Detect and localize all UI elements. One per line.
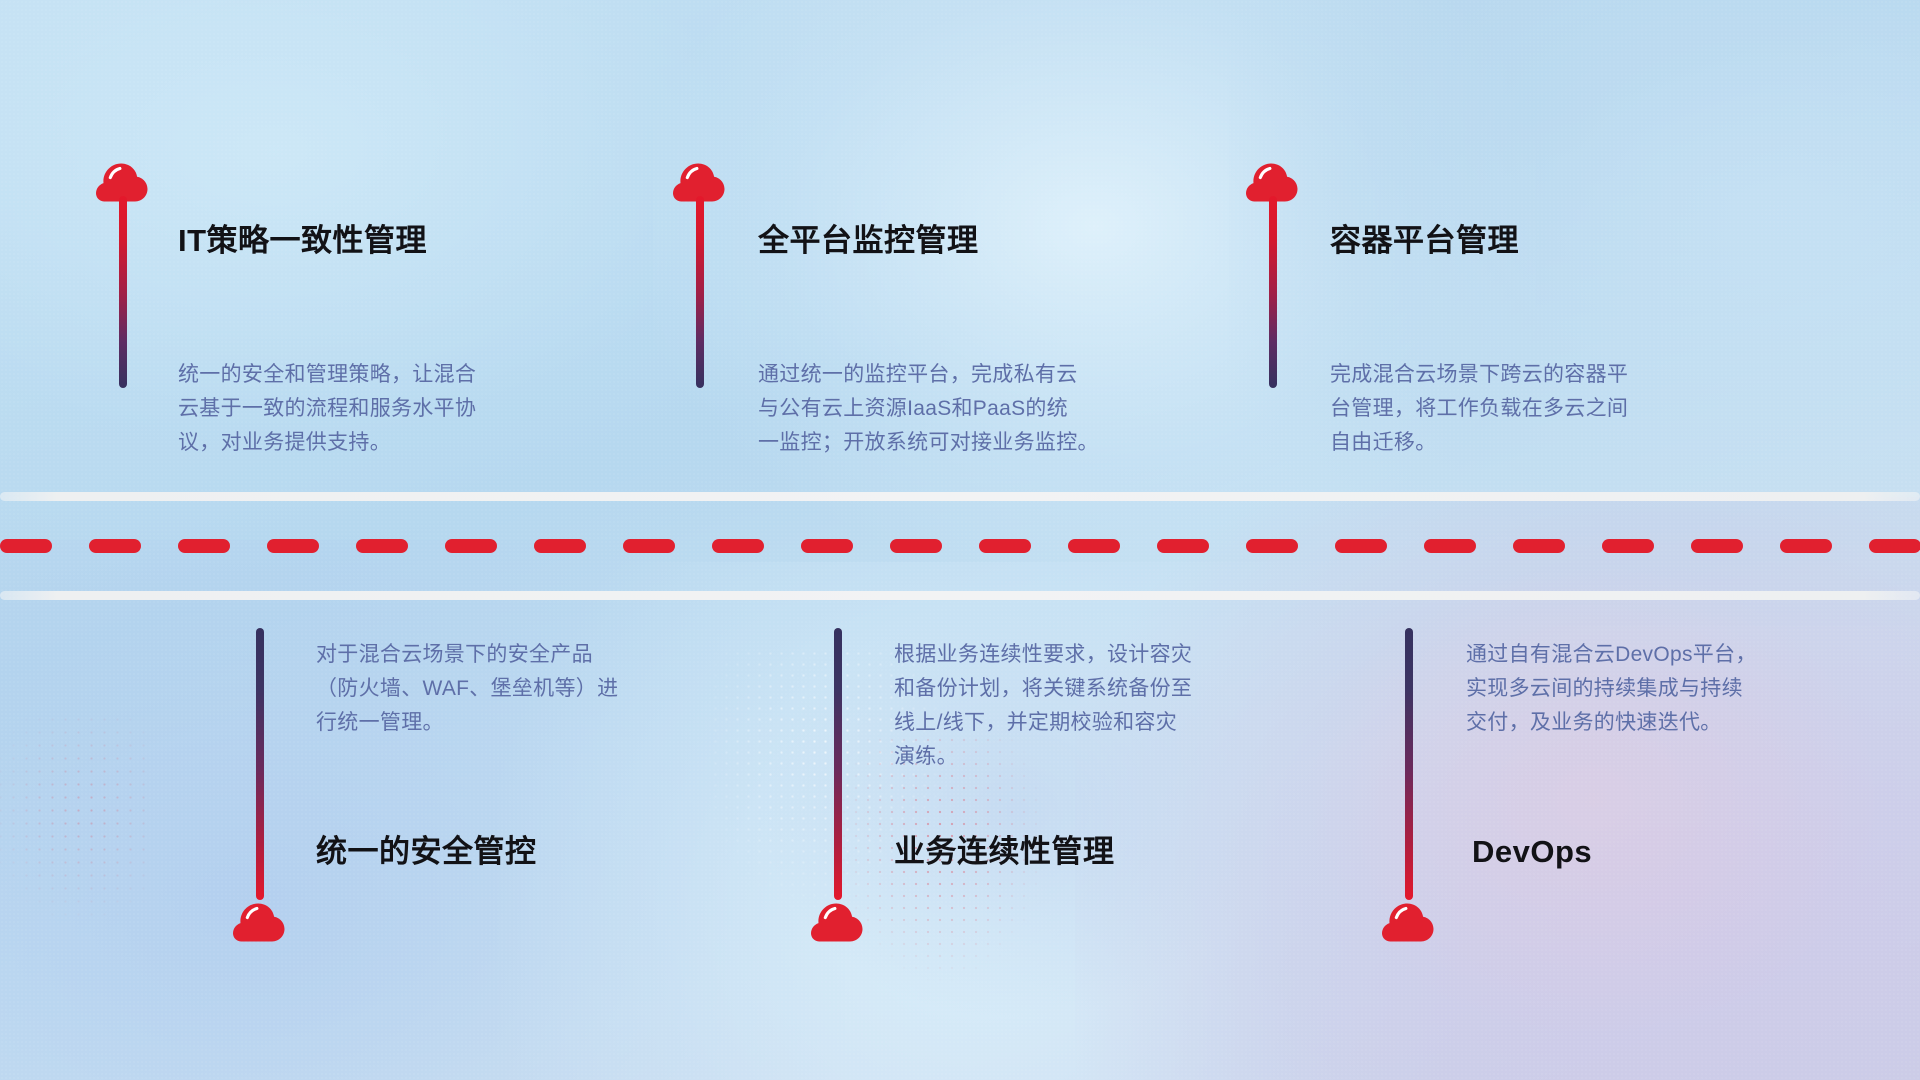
connector-line	[1405, 628, 1413, 900]
bottom-item-1-title: 统一的安全管控	[316, 836, 537, 867]
body-line: 实现多云间的持续集成与持续	[1466, 672, 1886, 706]
body-line: 根据业务连续性要求，设计容灾	[894, 638, 1324, 672]
top-item-1-title: IT策略一致性管理	[178, 225, 427, 256]
body-line: 演练。	[894, 740, 1324, 774]
body-line: 通过统一的监控平台，完成私有云	[758, 358, 1208, 392]
body-line: 自由迁移。	[1330, 426, 1760, 460]
bottom-item-3-body: 通过自有混合云DevOps平台， 实现多云间的持续集成与持续 交付，及业务的快速…	[1466, 638, 1886, 740]
body-line: （防火墙、WAF、堡垒机等）进	[316, 672, 746, 706]
body-line: 交付，及业务的快速迭代。	[1466, 706, 1886, 740]
top-item-1-body: 统一的安全和管理策略，让混合 云基于一致的流程和服务水平协 议，对业务提供支持。	[178, 358, 608, 460]
bottom-item-1-body: 对于混合云场景下的安全产品 （防火墙、WAF、堡垒机等）进 行统一管理。	[316, 638, 746, 740]
cloud-icon	[1381, 900, 1437, 942]
body-line: 线上/线下，并定期校验和容灾	[894, 706, 1324, 740]
body-line: 一监控；开放系统可对接业务监控。	[758, 426, 1208, 460]
connector-line	[1269, 196, 1277, 388]
body-line: 与公有云上资源IaaS和PaaS的统	[758, 392, 1208, 426]
body-line: 通过自有混合云DevOps平台，	[1466, 638, 1886, 672]
connector-line	[256, 628, 264, 900]
cloud-icon	[810, 900, 866, 942]
bottom-item-2-title: 业务连续性管理	[894, 836, 1115, 867]
top-item-2-body: 通过统一的监控平台，完成私有云 与公有云上资源IaaS和PaaS的统 一监控；开…	[758, 358, 1208, 460]
top-item-3-title: 容器平台管理	[1330, 225, 1519, 256]
body-line: 对于混合云场景下的安全产品	[316, 638, 746, 672]
body-line: 完成混合云场景下跨云的容器平	[1330, 358, 1760, 392]
items-layer: IT策略一致性管理 统一的安全和管理策略，让混合 云基于一致的流程和服务水平协 …	[0, 0, 1920, 1080]
top-item-2-title: 全平台监控管理	[758, 225, 979, 256]
connector-line	[119, 196, 127, 388]
body-line: 云基于一致的流程和服务水平协	[178, 392, 608, 426]
body-line: 台管理，将工作负载在多云之间	[1330, 392, 1760, 426]
body-line: 和备份计划，将关键系统备份至	[894, 672, 1324, 706]
body-line: 议，对业务提供支持。	[178, 426, 608, 460]
top-item-3-body: 完成混合云场景下跨云的容器平 台管理，将工作负载在多云之间 自由迁移。	[1330, 358, 1760, 460]
cloud-icon	[232, 900, 288, 942]
body-line: 统一的安全和管理策略，让混合	[178, 358, 608, 392]
bottom-item-3-title: DevOps	[1472, 836, 1592, 867]
connector-line	[834, 628, 842, 900]
body-line: 行统一管理。	[316, 706, 746, 740]
bottom-item-2-body: 根据业务连续性要求，设计容灾 和备份计划，将关键系统备份至 线上/线下，并定期校…	[894, 638, 1324, 774]
infographic-canvas: IT策略一致性管理 统一的安全和管理策略，让混合 云基于一致的流程和服务水平协 …	[0, 0, 1920, 1080]
connector-line	[696, 196, 704, 388]
